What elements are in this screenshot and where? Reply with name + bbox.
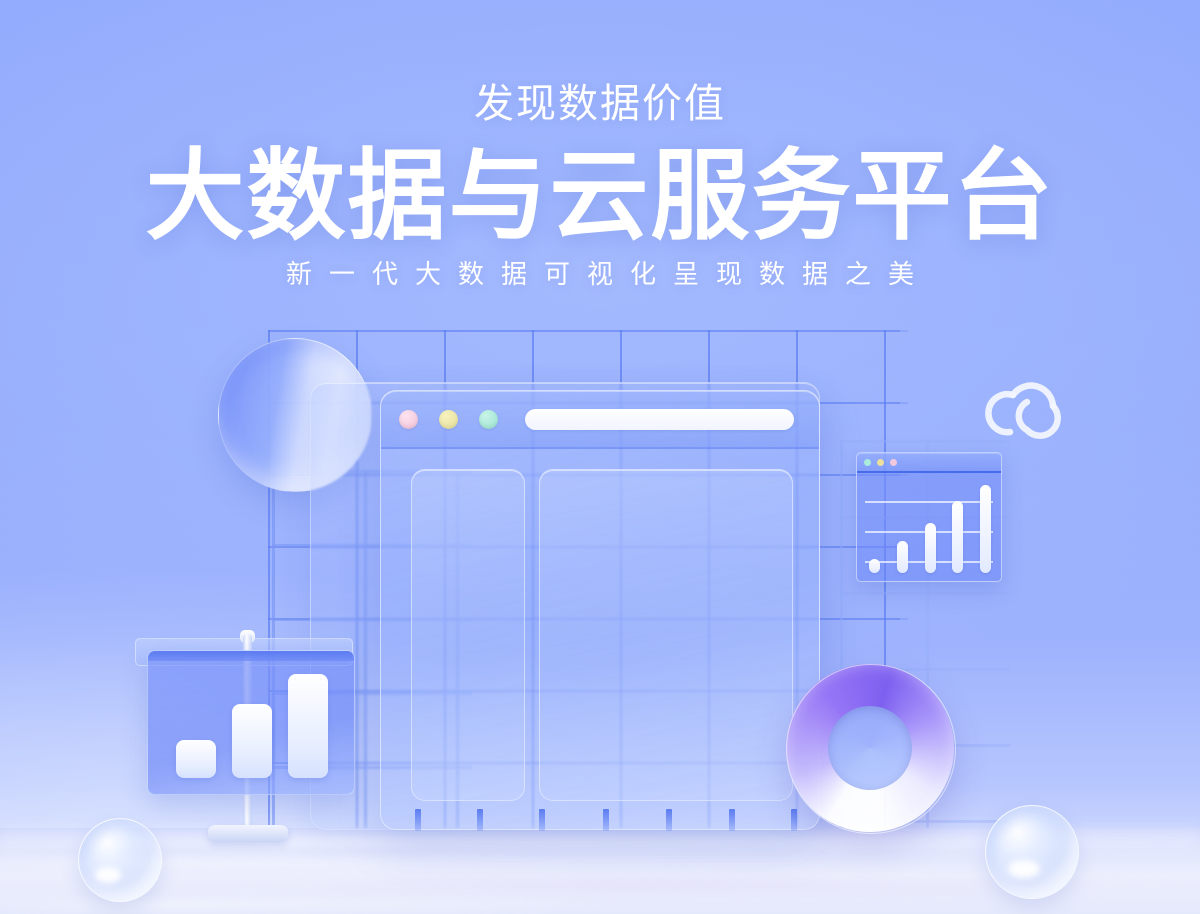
base-tick [603, 809, 609, 831]
content-panel[interactable] [539, 469, 793, 801]
base-tick [477, 809, 483, 831]
bubble-highlight [95, 867, 121, 883]
chart-bars [869, 481, 991, 573]
chart-bar [980, 485, 991, 573]
base-tick [539, 809, 545, 831]
close-dot[interactable] [864, 459, 871, 466]
browser-mockup[interactable] [380, 390, 820, 830]
chart-bar [897, 541, 908, 573]
chart-bar [232, 704, 272, 778]
monitor-stand-foot [208, 825, 288, 842]
cloud-icon [980, 362, 1070, 440]
page-title: 大数据与云服务平台 [0, 146, 1200, 245]
bar-chart-widget-titlebar [857, 453, 1001, 473]
chart-bar [176, 740, 216, 778]
base-tick [415, 809, 421, 831]
hero-banner: 发现数据价值 大数据与云服务平台 新一代大数据可视化呈现数据之美 [0, 0, 1200, 914]
chart-bar [869, 559, 880, 573]
sidebar-panel[interactable] [411, 469, 525, 801]
donut-chart[interactable] [786, 664, 954, 832]
chart-bar [925, 523, 936, 573]
glass-bubble-right [985, 805, 1079, 899]
bubble-highlight [1008, 860, 1040, 878]
close-dot[interactable] [399, 410, 418, 429]
hero-text-block: 发现数据价值 大数据与云服务平台 新一代大数据可视化呈现数据之美 [0, 84, 1200, 287]
hero-tagline: 新一代大数据可视化呈现数据之美 [0, 261, 1200, 287]
chart-bars [176, 673, 328, 778]
base-tick [666, 809, 672, 831]
address-bar-input[interactable] [525, 409, 794, 430]
bar-chart-plot-area [857, 473, 1001, 581]
minimize-dot[interactable] [877, 459, 884, 466]
monitor-bar-chart[interactable] [147, 650, 355, 795]
minimize-dot[interactable] [439, 410, 458, 429]
base-tick [729, 809, 735, 831]
glass-bubble-left [78, 818, 162, 902]
maximize-dot[interactable] [890, 459, 897, 466]
bar-chart-widget[interactable] [856, 452, 1002, 582]
base-tick [791, 809, 797, 831]
chart-bar [288, 674, 328, 778]
maximize-dot[interactable] [479, 410, 498, 429]
chart-bar [952, 501, 963, 573]
browser-titlebar [381, 391, 819, 449]
hero-eyebrow: 发现数据价值 [0, 84, 1200, 124]
monitor-bezel [148, 651, 354, 661]
